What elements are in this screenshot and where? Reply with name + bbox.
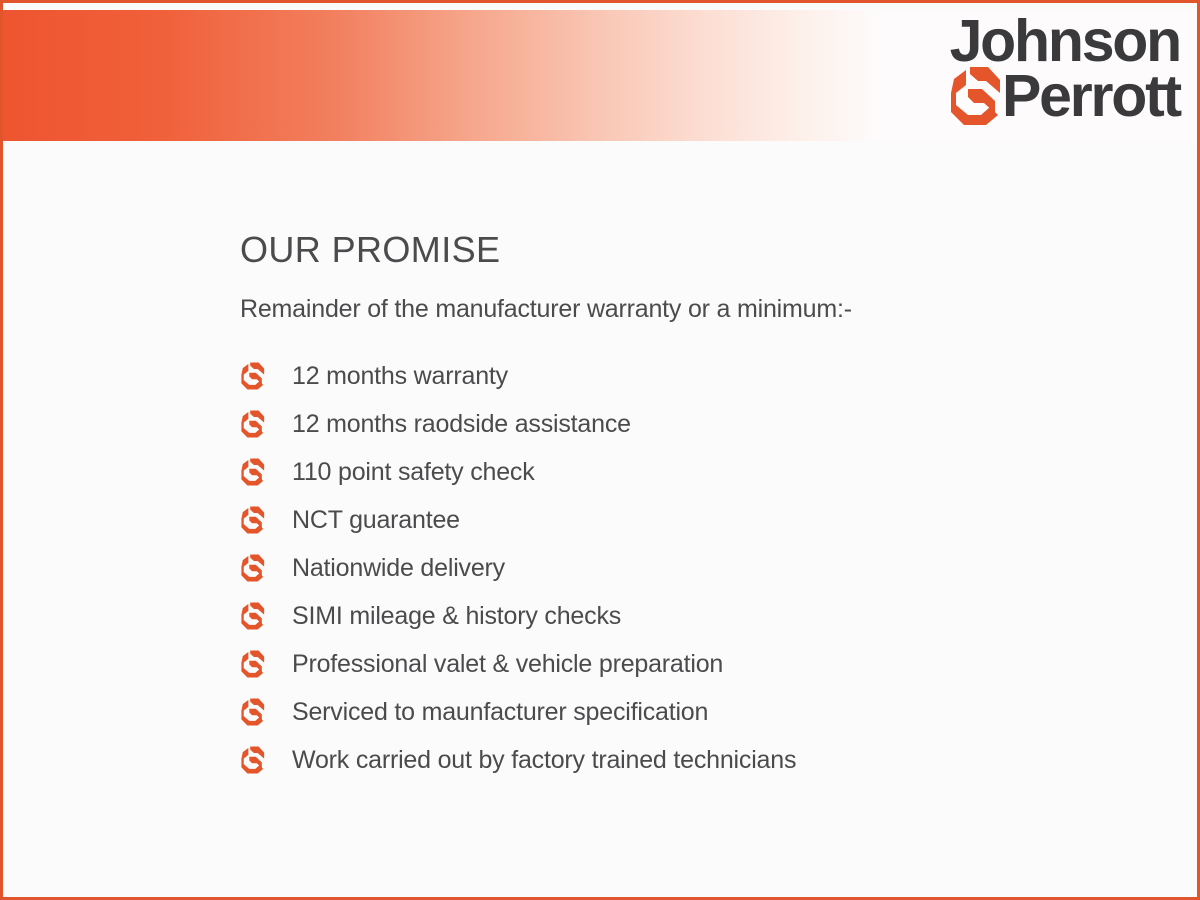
promise-slide: Johnson Perrott OUR PROMISE Remainder of… bbox=[0, 0, 1200, 900]
ampersand-bullet-icon bbox=[240, 409, 266, 439]
list-item: 12 months warranty bbox=[240, 352, 1170, 400]
ampersand-bullet-icon bbox=[240, 505, 266, 535]
list-item: Professional valet & vehicle preparation bbox=[240, 640, 1170, 688]
ampersand-bullet-icon bbox=[240, 649, 266, 679]
promise-list: 12 months warranty 12 months raodside as… bbox=[240, 352, 1170, 784]
promise-subtitle: Remainder of the manufacturer warranty o… bbox=[240, 292, 1170, 326]
logo-johnson-text: Johnson bbox=[950, 11, 1180, 71]
ampersand-bullet-icon bbox=[240, 457, 266, 487]
list-item: 12 months raodside assistance bbox=[240, 400, 1170, 448]
list-item-label: NCT guarantee bbox=[292, 505, 460, 535]
list-item: SIMI mileage & history checks bbox=[240, 592, 1170, 640]
list-item: Nationwide delivery bbox=[240, 544, 1170, 592]
list-item: 110 point safety check bbox=[240, 448, 1170, 496]
logo-perrott-text: Perrott bbox=[1002, 66, 1180, 126]
ampersand-bullet-icon bbox=[240, 745, 266, 775]
brand-logo: Johnson Perrott bbox=[890, 11, 1180, 136]
list-item-label: Serviced to maunfacturer specification bbox=[292, 697, 708, 727]
list-item-label: Professional valet & vehicle preparation bbox=[292, 649, 723, 679]
page-title: OUR PROMISE bbox=[240, 228, 1170, 272]
list-item-label: Work carried out by factory trained tech… bbox=[292, 745, 796, 775]
ampersand-bullet-icon bbox=[240, 553, 266, 583]
promise-content: OUR PROMISE Remainder of the manufacture… bbox=[240, 228, 1170, 784]
list-item: Serviced to maunfacturer specification bbox=[240, 688, 1170, 736]
logo-second-line: Perrott bbox=[948, 65, 1180, 127]
ampersand-bullet-icon bbox=[240, 697, 266, 727]
list-item-label: Nationwide delivery bbox=[292, 553, 505, 583]
ampersand-bullet-icon bbox=[240, 601, 266, 631]
list-item: Work carried out by factory trained tech… bbox=[240, 736, 1170, 784]
ampersand-icon bbox=[948, 65, 1004, 127]
list-item-label: 12 months warranty bbox=[292, 361, 508, 391]
list-item-label: 12 months raodside assistance bbox=[292, 409, 631, 439]
ampersand-bullet-icon bbox=[240, 361, 266, 391]
list-item-label: SIMI mileage & history checks bbox=[292, 601, 621, 631]
header-gradient bbox=[3, 10, 873, 141]
list-item: NCT guarantee bbox=[240, 496, 1170, 544]
list-item-label: 110 point safety check bbox=[292, 457, 535, 487]
